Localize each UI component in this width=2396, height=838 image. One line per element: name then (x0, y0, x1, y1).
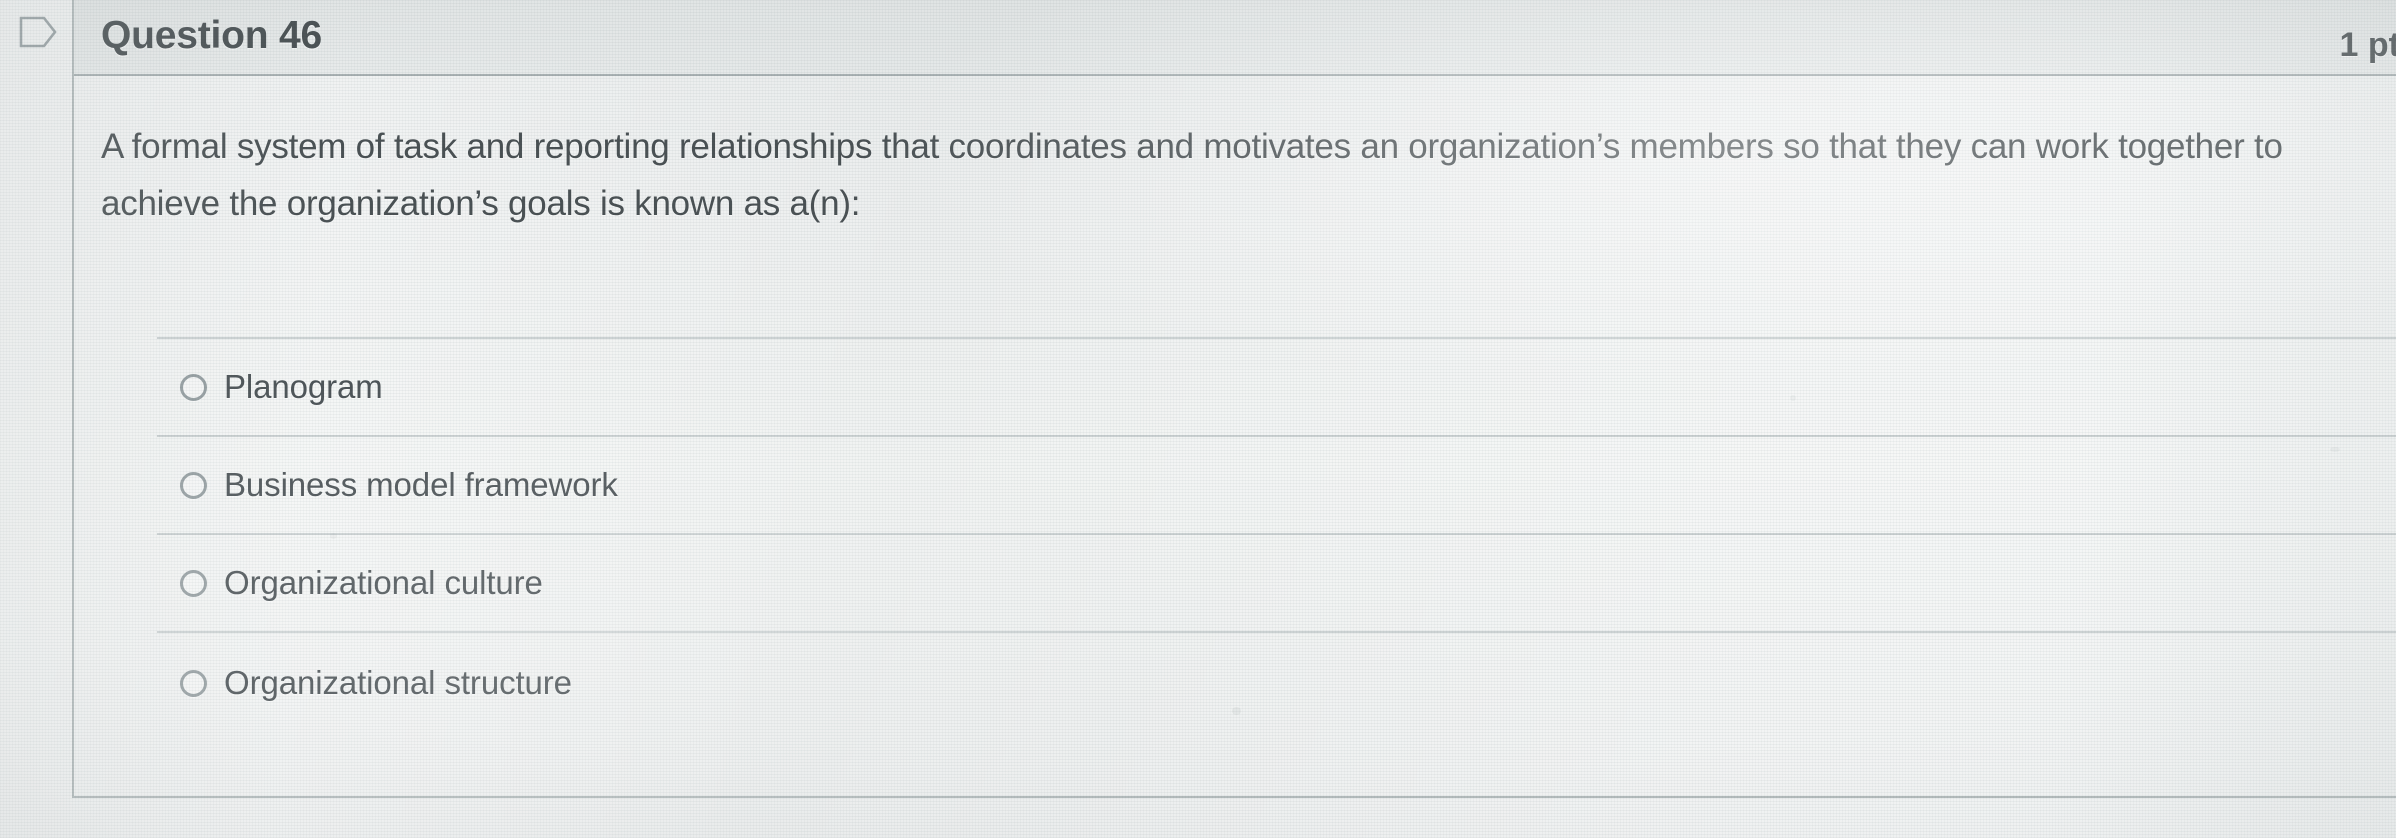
answer-option-4[interactable]: Organizational structure (157, 631, 2396, 733)
answer-option-label: Organizational culture (224, 564, 543, 602)
radio-button-icon[interactable] (180, 472, 207, 499)
answer-option-1[interactable]: Planogram (157, 337, 2396, 435)
question-prompt: A formal system of task and reporting re… (101, 118, 2356, 232)
answer-options-list: Planogram Business model framework Organ… (157, 337, 2396, 733)
question-card: Question 46 1 pt A formal system of task… (72, 0, 2396, 798)
answer-option-3[interactable]: Organizational culture (157, 533, 2396, 631)
radio-button-icon[interactable] (180, 374, 207, 401)
question-body: A formal system of task and reporting re… (101, 118, 2356, 232)
radio-button-icon[interactable] (180, 670, 207, 697)
flag-pentagon-icon[interactable] (18, 14, 58, 50)
question-flag-gutter (0, 0, 72, 78)
question-points-badge: 1 pt (2340, 26, 2396, 65)
answer-option-label: Organizational structure (224, 664, 572, 702)
quiz-question-screenshot: Question 46 1 pt A formal system of task… (0, 0, 2396, 838)
answer-option-label: Business model framework (224, 466, 618, 504)
question-header: Question 46 1 pt (74, 0, 2396, 76)
answer-option-2[interactable]: Business model framework (157, 435, 2396, 533)
page-title: Question 46 (101, 14, 322, 58)
radio-button-icon[interactable] (180, 570, 207, 597)
answer-option-label: Planogram (224, 368, 383, 406)
